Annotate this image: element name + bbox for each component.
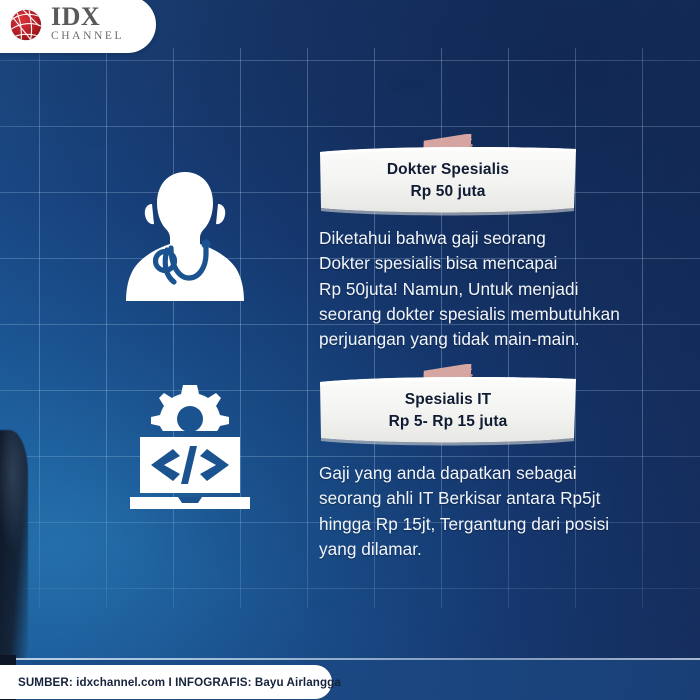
desc-line: seorang ahli IT Berkisar antara Rp5jt <box>319 486 689 511</box>
footer-divider <box>0 658 700 660</box>
doctor-with-stethoscope-icon <box>122 168 248 308</box>
desc-line: Rp 50juta! Namun, Untuk menjadi <box>319 277 689 302</box>
desc-line: perjuangan yang tidak main-main. <box>319 327 689 352</box>
desc-line: Gaji yang anda dapatkan sebagai <box>319 461 689 486</box>
desc-line: yang dilamar. <box>319 537 689 562</box>
brand-sub: CHANNEL <box>51 31 124 43</box>
desc-line: Dokter spesialis bisa mencapai <box>319 251 689 276</box>
laptop-code-gear-icon <box>126 383 254 511</box>
globe-sphere-icon <box>8 7 44 43</box>
left-edge-silhouette <box>0 430 28 670</box>
desc-line: hingga Rp 15jt, Tergantung dari posisi <box>319 512 689 537</box>
desc-line: seorang dokter spesialis membutuhkan <box>319 302 689 327</box>
infographic-canvas: IDX CHANNEL <box>0 0 700 700</box>
brand-logo-pill: IDX CHANNEL <box>0 0 156 53</box>
brand-name: IDX <box>51 4 124 30</box>
desc-line: Diketahui bahwa gaji seorang <box>319 226 689 251</box>
salary-card-doctor: Dokter Spesialis Rp 50 juta <box>317 148 579 214</box>
brand-wordmark: IDX CHANNEL <box>51 4 124 45</box>
card-paper-shape <box>317 134 579 218</box>
doctor-description: Diketahui bahwa gaji seorang Dokter spes… <box>319 226 689 352</box>
footer-source-text: SUMBER: idxchannel.com I INFOGRAFIS: Bay… <box>18 676 341 689</box>
it-description: Gaji yang anda dapatkan sebagai seorang … <box>319 461 689 562</box>
card-paper-shape <box>317 364 579 448</box>
salary-card-it: Spesialis IT Rp 5- Rp 15 juta <box>317 378 579 444</box>
footer-source-pill: SUMBER: idxchannel.com I INFOGRAFIS: Bay… <box>0 665 332 699</box>
